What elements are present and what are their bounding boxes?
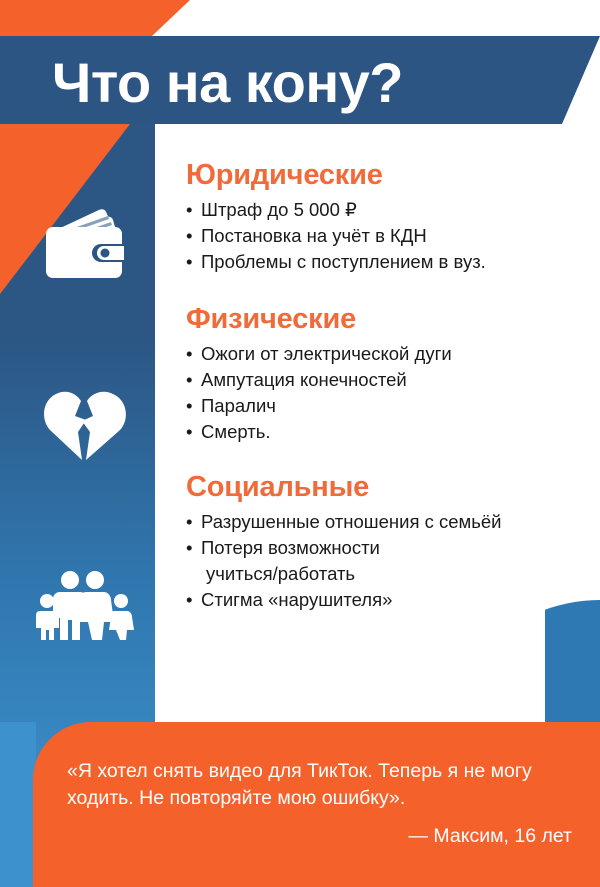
page-title: Что на кону? bbox=[52, 40, 403, 124]
blue-footer-strip bbox=[0, 722, 36, 887]
list-item: Ампутация конечностей bbox=[186, 368, 586, 392]
family-icon bbox=[24, 550, 144, 660]
list-item: Стигма «нарушителя» bbox=[186, 588, 586, 612]
poster-root: Что на кону? bbox=[0, 0, 600, 887]
section-heading-physical: Физические bbox=[186, 304, 586, 336]
broken-heart-icon bbox=[24, 370, 144, 480]
section-physical: Физические Ожоги от электрической дуги А… bbox=[186, 304, 586, 444]
list-item: Штраф до 5 000 ₽ bbox=[186, 198, 586, 222]
list-item: Постановка на учёт в КДН bbox=[186, 224, 586, 248]
section-heading-legal: Юридические bbox=[186, 160, 586, 192]
list-item: Паралич bbox=[186, 394, 586, 418]
list-item: Смерть. bbox=[186, 420, 586, 444]
sections-list: Юридические Штраф до 5 000 ₽ Постановка … bbox=[186, 160, 586, 636]
list-item-continuation: учиться/работать bbox=[186, 562, 586, 586]
bullet-list-physical: Ожоги от электрической дуги Ампутация ко… bbox=[186, 342, 586, 444]
list-item: Проблемы с поступлением в вуз. bbox=[186, 250, 586, 274]
bullet-list-social: Разрушенные отношения с семьёй Потеря во… bbox=[186, 510, 586, 612]
quote-author: — Максим, 16 лет bbox=[67, 825, 572, 848]
section-heading-social: Социальные bbox=[186, 472, 586, 504]
section-legal: Юридические Штраф до 5 000 ₽ Постановка … bbox=[186, 160, 586, 274]
quote-text: «Я хотел снять видео для ТикТок. Теперь … bbox=[67, 758, 572, 812]
section-social: Социальные Разрушенные отношения с семьё… bbox=[186, 472, 586, 612]
list-item: Разрушенные отношения с семьёй bbox=[186, 510, 586, 534]
wallet-icon bbox=[24, 190, 144, 300]
bullet-list-legal: Штраф до 5 000 ₽ Постановка на учёт в КД… bbox=[186, 198, 586, 274]
list-item: Ожоги от электрической дуги bbox=[186, 342, 586, 366]
list-item: Потеря возможности bbox=[186, 536, 586, 560]
